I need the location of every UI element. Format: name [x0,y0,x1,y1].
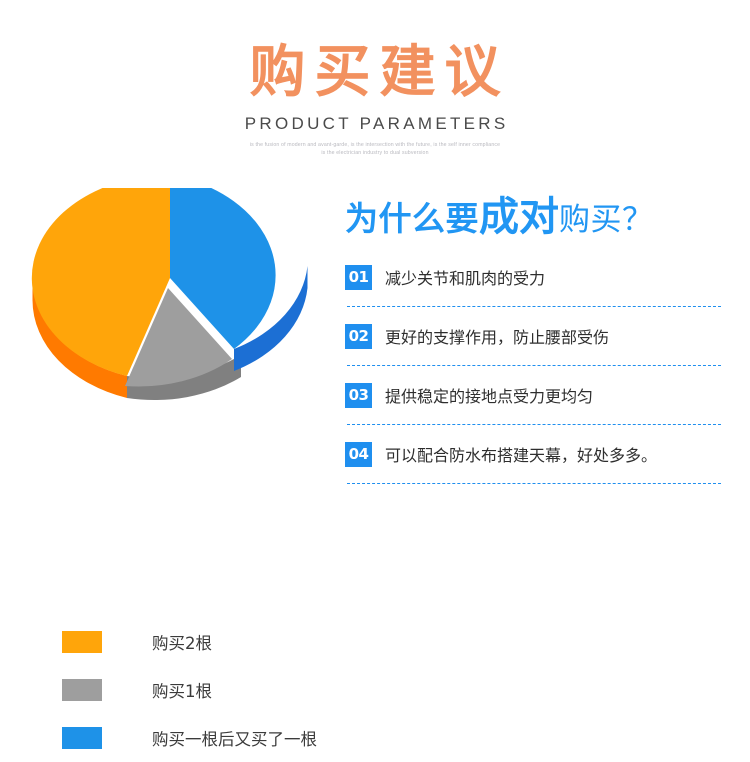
reason-number-badge: 03 [345,383,372,408]
pie-value-label-orange: 45% [62,436,127,471]
legend-item: 购买1根 [62,666,342,714]
pie-chart-block: 45% 21% 34% 购买2根 购买1根 购买一根后又买了一根 [20,188,330,568]
header-micro-line-1: is the fusion of modern and avant-garde,… [160,141,590,149]
list-divider [347,483,721,484]
legend-item-label: 购买一根后又买了一根 [152,726,317,750]
page-subtitle: PRODUCT PARAMETERS [0,114,750,134]
list-item: 03 提供稳定的接地点受力更均匀 [345,377,735,413]
list-item: 04 可以配合防水布搭建天幕，好处多多。 [345,436,735,472]
pie-value-label-blue: 34% [168,436,233,471]
reason-number-badge: 04 [345,442,372,467]
pie-chart-svg [20,188,320,403]
pie-chart [20,188,320,403]
legend-item-label: 购买2根 [152,630,212,654]
pie-value-label-gray: 21% [130,501,195,536]
reason-text: 可以配合防水布搭建天幕，好处多多。 [385,442,657,466]
legend-swatch-icon [62,727,102,749]
legend-swatch-icon [62,679,102,701]
reason-text: 提供稳定的接地点受力更均匀 [385,383,593,407]
reason-number-badge: 02 [345,324,372,349]
reason-number-badge: 01 [345,265,372,290]
list-divider [347,306,721,307]
page-title: 购买建议 [0,42,750,104]
list-item: 01 减少关节和肌肉的受力 [345,259,735,295]
legend-swatch-icon [62,631,102,653]
legend-item: 购买一根后又买了一根 [62,714,342,762]
reason-text: 减少关节和肌肉的受力 [385,265,545,289]
list-divider [347,424,721,425]
pie-chart-legend: 购买2根 购买1根 购买一根后又买了一根 [62,618,342,762]
reasons-heading-part1: 为什么要 [345,199,479,238]
reasons-heading-emphasis: 成对 [479,194,559,240]
list-divider [347,365,721,366]
legend-item: 购买2根 [62,618,342,666]
list-item: 02 更好的支撑作用，防止腰部受伤 [345,318,735,354]
reasons-heading: 为什么要成对购买？ [345,196,735,241]
page-header: 购买建议 PRODUCT PARAMETERS is the fusion of… [0,0,750,157]
header-micro-text: is the fusion of modern and avant-garde,… [160,141,590,157]
legend-item-label: 购买1根 [152,678,212,702]
reason-text: 更好的支撑作用，防止腰部受伤 [385,324,609,348]
reasons-list: 01 减少关节和肌肉的受力 02 更好的支撑作用，防止腰部受伤 03 提供稳定的… [345,259,735,484]
reasons-panel: 为什么要成对购买？ 01 减少关节和肌肉的受力 02 更好的支撑作用，防止腰部受… [345,196,735,495]
header-micro-line-2: is the electrician industry to dual subv… [160,149,590,157]
reasons-heading-part2: 购买？ [559,202,654,238]
